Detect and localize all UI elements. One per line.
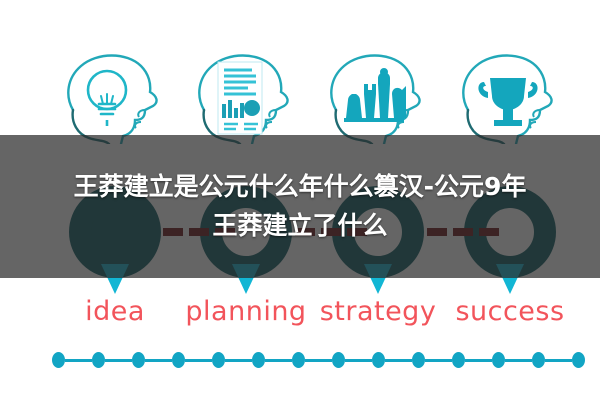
track-node	[292, 352, 305, 368]
track-node	[412, 352, 425, 368]
head-trophy-icon	[450, 48, 570, 144]
headline-text: 王莽建立是公元什么年什么篡汉-公元9年 王莽建立了什么	[0, 135, 600, 278]
track-node	[252, 352, 265, 368]
infographic-screenshot: idea	[0, 0, 600, 400]
track-segment	[345, 359, 372, 362]
head-chess-icon	[318, 48, 438, 144]
headline-line-1: 王莽建立是公元什么年什么篡汉-公元9年	[74, 170, 527, 205]
bottom-dotted-track	[52, 352, 600, 368]
track-node	[372, 352, 385, 368]
track-node	[332, 352, 345, 368]
track-node	[92, 352, 105, 368]
track-segment	[425, 359, 452, 362]
step-label-idea: idea	[40, 296, 190, 327]
head-report-chart-icon	[186, 48, 306, 144]
track-node	[532, 352, 545, 368]
track-node	[172, 352, 185, 368]
track-segment	[185, 359, 212, 362]
track-segment	[105, 359, 132, 362]
track-segment	[225, 359, 252, 362]
step-label-success: success	[435, 296, 585, 327]
track-node	[452, 352, 465, 368]
track-node	[492, 352, 505, 368]
track-segment	[65, 359, 92, 362]
track-segment	[265, 359, 292, 362]
track-node	[52, 352, 65, 368]
head-lightbulb-icon	[55, 48, 175, 144]
track-segment	[385, 359, 412, 362]
track-node	[212, 352, 225, 368]
step-label-planning: planning	[171, 296, 321, 327]
track-segment	[305, 359, 332, 362]
track-segment	[545, 359, 572, 362]
track-segment	[145, 359, 172, 362]
step-label-strategy: strategy	[303, 296, 453, 327]
track-segment	[505, 359, 532, 362]
headline-line-2: 王莽建立了什么	[212, 209, 387, 244]
track-segment	[465, 359, 492, 362]
track-node	[132, 352, 145, 368]
track-node	[572, 352, 585, 368]
